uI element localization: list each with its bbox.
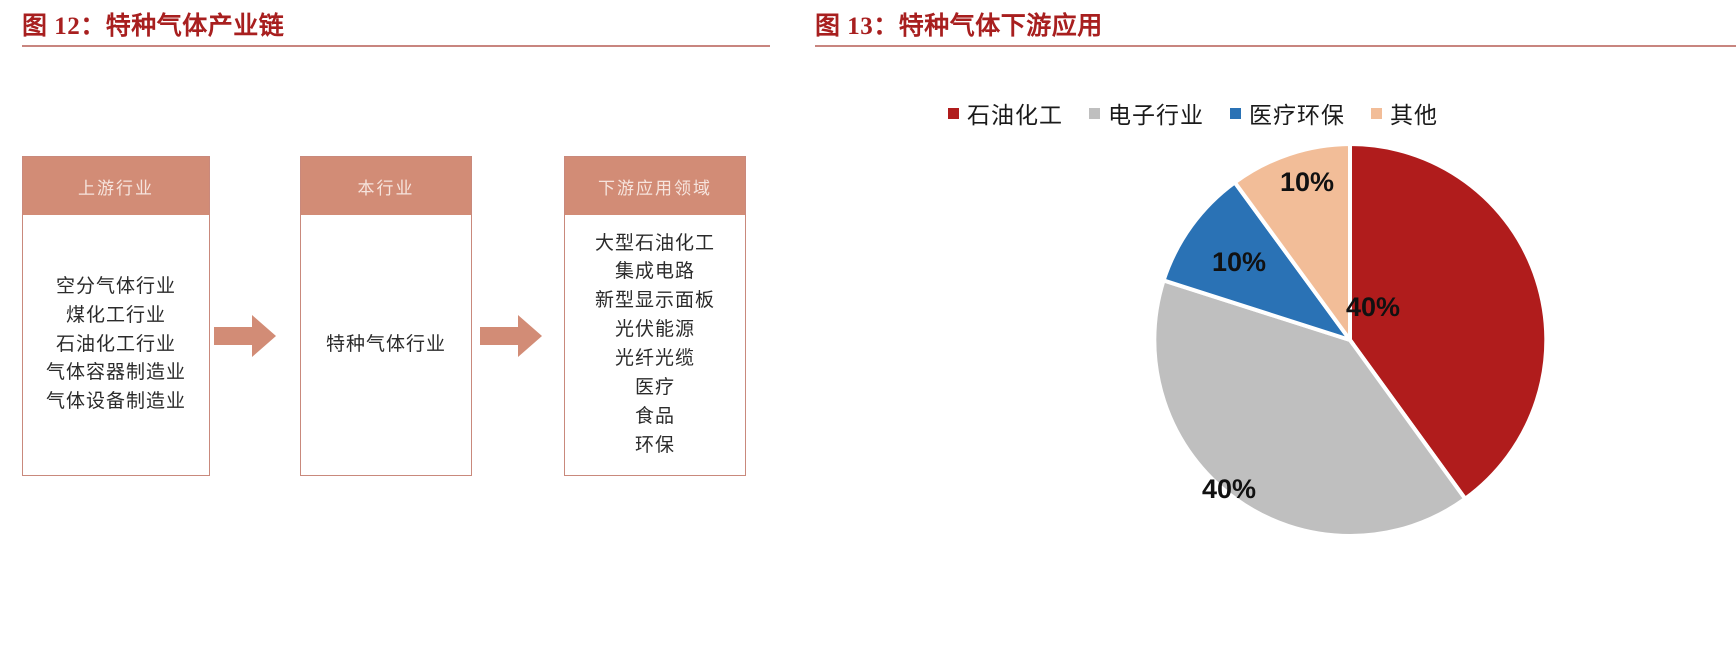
flow-arrow-icon bbox=[214, 313, 276, 359]
figure-12-title: 图 12：特种气体产业链 bbox=[22, 6, 284, 42]
figure-13-title-rule bbox=[815, 45, 1736, 47]
legend-item-medical-environmental[interactable]: 医疗环保 bbox=[1230, 96, 1345, 130]
flow-line: 空分气体行业 bbox=[56, 273, 176, 302]
legend-item-electronics[interactable]: 电子行业 bbox=[1089, 96, 1204, 130]
flow-box-current-industry: 本行业 特种气体行业 bbox=[300, 156, 472, 476]
flow-line: 大型石油化工 bbox=[595, 230, 715, 259]
flow-arrow-icon bbox=[480, 313, 542, 359]
flow-box-current-industry-header: 本行业 bbox=[301, 157, 471, 215]
legend-swatch-icon bbox=[948, 108, 959, 119]
legend-item-petrochemical[interactable]: 石油化工 bbox=[948, 96, 1063, 130]
pie-chart: 40% 40% 10% 10% bbox=[960, 140, 1580, 540]
legend-item-other[interactable]: 其他 bbox=[1371, 96, 1438, 130]
flow-box-upstream-body: 空分气体行业 煤化工行业 石油化工行业 气体容器制造业 气体设备制造业 bbox=[23, 215, 209, 475]
flow-line: 食品 bbox=[635, 403, 675, 432]
pie-label-other: 10% bbox=[1280, 167, 1334, 198]
flow-box-downstream-header: 下游应用领域 bbox=[565, 157, 745, 215]
pie-label-electronics: 40% bbox=[1202, 474, 1256, 505]
flow-line: 特种气体行业 bbox=[326, 331, 446, 360]
flow-line: 光伏能源 bbox=[615, 316, 695, 345]
figure-13-panel: 图 13：特种气体下游应用 石油化工 电子行业 医疗环保 其他 bbox=[800, 0, 1736, 662]
flow-line: 医疗 bbox=[635, 374, 675, 403]
flow-box-upstream: 上游行业 空分气体行业 煤化工行业 石油化工行业 气体容器制造业 气体设备制造业 bbox=[22, 156, 210, 476]
flow-line: 集成电路 bbox=[615, 258, 695, 287]
legend-label: 其他 bbox=[1390, 96, 1438, 130]
flow-line: 环保 bbox=[635, 432, 675, 461]
legend-swatch-icon bbox=[1230, 108, 1241, 119]
flow-box-downstream: 下游应用领域 大型石油化工 集成电路 新型显示面板 光伏能源 光纤光缆 医疗 食… bbox=[564, 156, 746, 476]
flow-line: 煤化工行业 bbox=[66, 302, 166, 331]
flow-line: 新型显示面板 bbox=[595, 287, 715, 316]
legend-label: 电子行业 bbox=[1108, 96, 1204, 130]
legend-swatch-icon bbox=[1089, 108, 1100, 119]
legend-label: 医疗环保 bbox=[1249, 96, 1345, 130]
flow-line: 光纤光缆 bbox=[615, 345, 695, 374]
flow-line: 气体设备制造业 bbox=[46, 388, 186, 417]
flow-box-upstream-header: 上游行业 bbox=[23, 157, 209, 215]
figure-12-title-rule bbox=[22, 45, 770, 47]
flow-line: 石油化工行业 bbox=[56, 331, 176, 360]
legend-swatch-icon bbox=[1371, 108, 1382, 119]
figure-13-title: 图 13：特种气体下游应用 bbox=[815, 6, 1103, 42]
flow-line: 气体容器制造业 bbox=[46, 359, 186, 388]
figure-12-panel: 图 12：特种气体产业链 上游行业 空分气体行业 煤化工行业 石油化工行业 气体… bbox=[0, 0, 790, 662]
flow-box-downstream-body: 大型石油化工 集成电路 新型显示面板 光伏能源 光纤光缆 医疗 食品 环保 bbox=[565, 215, 745, 475]
pie-legend: 石油化工 电子行业 医疗环保 其他 bbox=[948, 96, 1438, 130]
pie-label-petrochemical: 40% bbox=[1346, 292, 1400, 323]
legend-label: 石油化工 bbox=[967, 96, 1063, 130]
flow-box-current-industry-body: 特种气体行业 bbox=[301, 215, 471, 475]
pie-label-medical-environmental: 10% bbox=[1212, 247, 1266, 278]
